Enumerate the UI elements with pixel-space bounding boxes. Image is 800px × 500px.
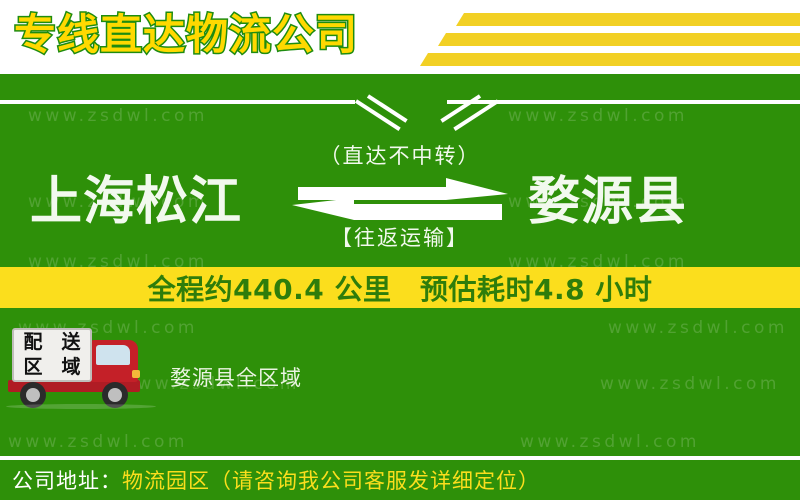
truck-window <box>96 345 130 365</box>
stripe-3 <box>420 53 800 66</box>
truck-headlight-icon <box>132 370 140 378</box>
metrics-text: 全程约440.4 公里 预估耗时4.8 小时 <box>148 268 653 308</box>
double-arrow-icon <box>292 178 508 222</box>
delivery-coverage-text: 婺源县全区域 <box>170 362 302 392</box>
truck-box-char-4: 域 <box>61 358 80 377</box>
stripe-2 <box>438 33 800 46</box>
decorative-stripes <box>418 0 800 74</box>
stripe-1 <box>456 13 800 26</box>
watermark: www.zsdwl.com <box>520 432 700 452</box>
address-label: 公司地址： <box>12 465 122 495</box>
address-value: 物流园区（请咨询我公司客服发详细定位） <box>122 465 540 495</box>
watermark: www.zsdwl.com <box>608 318 788 338</box>
page-title: 专线直达物流公司 <box>14 9 358 61</box>
poster-header: 专线直达物流公司 <box>0 0 800 74</box>
route-note-top: （直达不中转） <box>0 140 800 170</box>
truck-box-char-3: 区 <box>23 358 42 377</box>
truck-box-char-2: 送 <box>61 333 80 352</box>
logistics-poster: 专线直达物流公司 www.zsdwl.com www.zsdwl.com www… <box>0 0 800 500</box>
watermark: www.zsdwl.com <box>28 106 208 126</box>
delivery-truck-icon: 配 送 区 域 <box>6 326 158 406</box>
truck-shadow <box>6 404 156 409</box>
watermark: www.zsdwl.com <box>8 432 188 452</box>
arrow-right-icon <box>298 178 508 200</box>
arrow-left-icon <box>292 198 502 220</box>
metrics-bar: 全程约440.4 公里 预估耗时4.8 小时 <box>0 267 800 308</box>
watermark: www.zsdwl.com <box>600 374 780 394</box>
watermark: www.zsdwl.com <box>508 106 688 126</box>
address-bar: 公司地址： 物流园区（请咨询我公司客服发详细定位） <box>0 460 800 500</box>
chevron-down-icon <box>358 93 444 127</box>
truck-box-char-1: 配 <box>23 333 42 352</box>
truck-cargo-box: 配 送 区 域 <box>12 328 92 382</box>
poster-body: www.zsdwl.com www.zsdwl.com www.zsdwl.co… <box>0 74 800 500</box>
route-note-bottom: 【往返运输】 <box>0 222 800 252</box>
